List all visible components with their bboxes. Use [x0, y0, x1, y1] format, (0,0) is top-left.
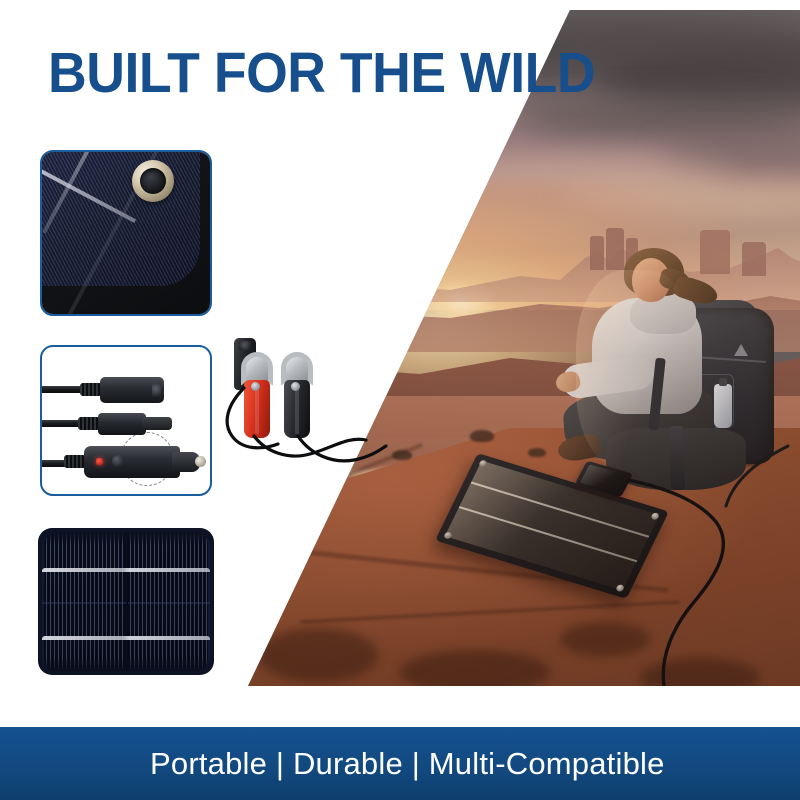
grommet-hole [140, 168, 166, 194]
feature-banner: Portable | Durable | Multi-Compatible [0, 727, 800, 800]
feature-banner-text: Portable | Durable | Multi-Compatible [150, 746, 665, 782]
detail-panel-connectors [40, 345, 212, 496]
wire [227, 388, 278, 448]
panel-output-cable [726, 446, 788, 506]
cell-busbar [42, 636, 210, 640]
cell-busbar [42, 568, 210, 572]
charge-led-indicator [96, 458, 103, 465]
cell-seam-vertical [126, 532, 128, 671]
alligator-clip-set [214, 338, 384, 498]
detail-panel-grommet [40, 150, 212, 316]
detail-panel-cell-macro [38, 528, 214, 675]
strain-relief [64, 455, 86, 468]
strain-relief [78, 417, 100, 430]
plug-tip [142, 417, 172, 430]
plug-button [112, 455, 124, 467]
cell-edge-shade [42, 532, 210, 546]
plug-center-pin [195, 456, 206, 467]
cell-edge-shade [42, 657, 210, 671]
phone-charging-cable [628, 480, 723, 686]
strain-relief [80, 383, 102, 396]
barrel-plug-male [98, 413, 146, 435]
wire [298, 436, 386, 461]
page-title: BUILT FOR THE WILD [48, 44, 537, 102]
monocrystalline-cell-surface [42, 532, 210, 671]
grommet-icon [132, 160, 174, 202]
barrel-jack-female [100, 377, 164, 403]
marketing-image-canvas: BUILT FOR THE WILD [0, 0, 800, 800]
panel-corner-photo [40, 150, 212, 316]
clip-lead-wires [214, 338, 384, 498]
